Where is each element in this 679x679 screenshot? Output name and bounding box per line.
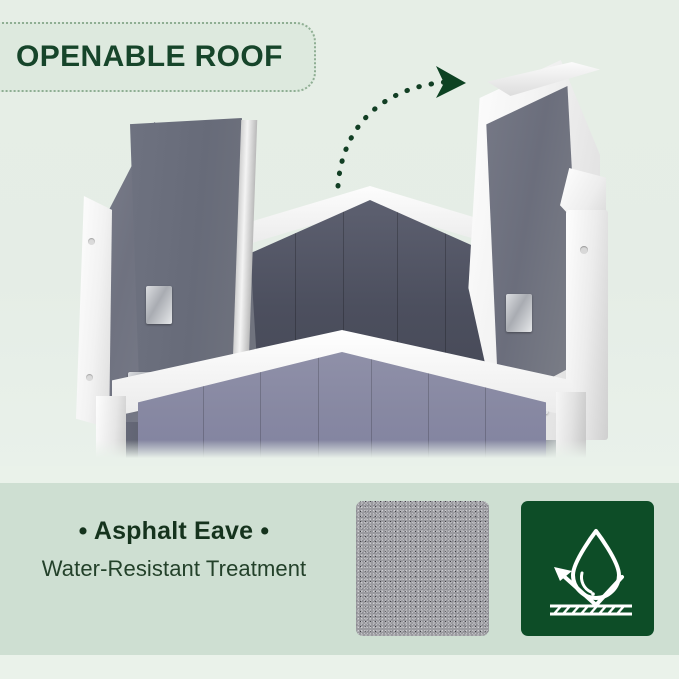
banner-title: OPENABLE ROOF — [16, 40, 283, 74]
feature-title: • Asphalt Eave • — [0, 517, 348, 546]
infographic-page: OPENABLE ROOF • Asphalt Eave • Water-Res… — [0, 0, 679, 679]
openable-roof-banner: OPENABLE ROOF — [0, 22, 316, 92]
curved-dotted-arrow-icon — [320, 58, 480, 193]
right-roof-hinge-upper — [506, 294, 532, 332]
photo-bottom-fade — [0, 440, 679, 466]
left-roof-hinge-upper — [146, 286, 172, 324]
left-roof-panel-frame — [76, 196, 112, 428]
feature-text-block: • Asphalt Eave • Water-Resistant Treatme… — [0, 517, 348, 582]
feature-info-panel: • Asphalt Eave • Water-Resistant Treatme… — [0, 483, 679, 655]
water-droplet-repel-icon — [534, 515, 642, 623]
feature-subtitle: Water-Resistant Treatment — [0, 556, 348, 582]
water-resistant-icon-swatch — [521, 501, 654, 636]
product-photo-area: OPENABLE ROOF — [0, 0, 679, 466]
asphalt-texture-swatch — [356, 501, 489, 636]
